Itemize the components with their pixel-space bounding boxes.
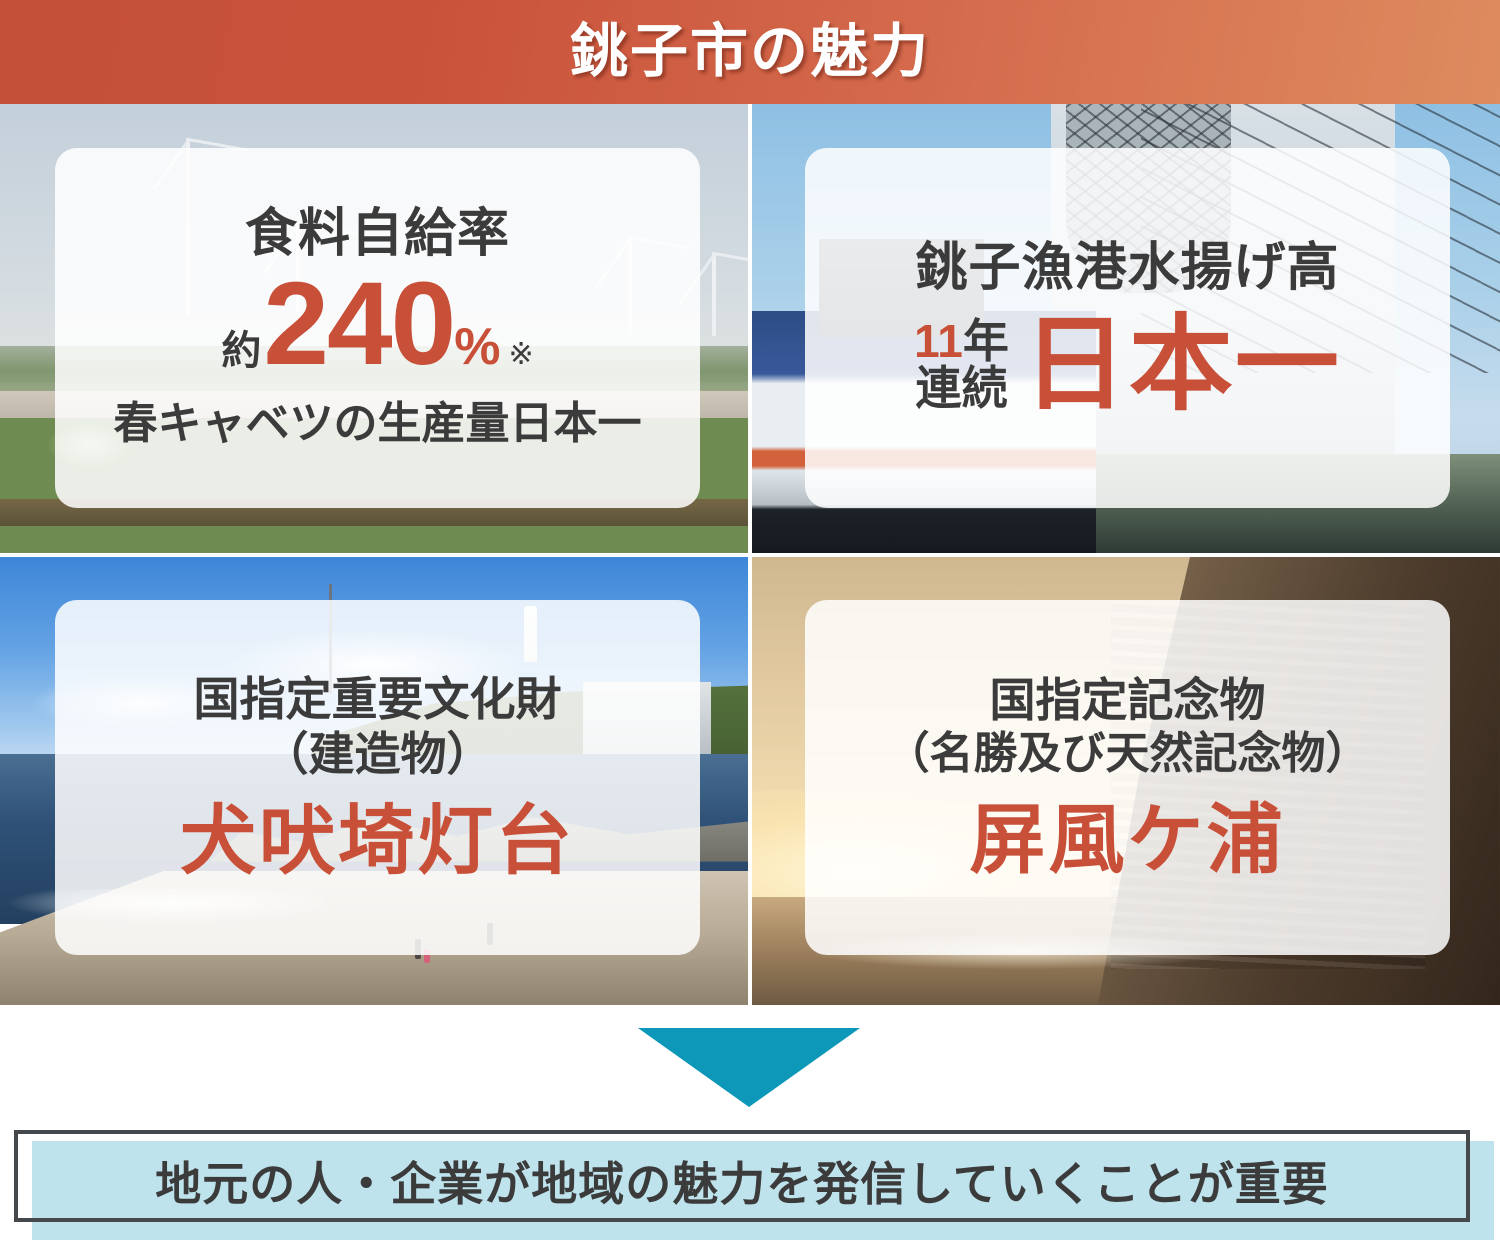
designation-line-1: 国指定重要文化財 (194, 672, 562, 727)
rank-row: 11年 連続 日本一 (914, 313, 1341, 417)
rank-value: 日本一 (1023, 313, 1341, 417)
stat-card-byobugaura: 国指定記念物 （名勝及び天然記念物） 屏風ケ浦 (805, 600, 1450, 955)
consecutive-label: 連続 (915, 365, 1007, 412)
page-title: 銚子市の魅力 (570, 23, 930, 81)
card-subtitle: 春キャベツの生産量日本一 (114, 387, 642, 451)
stat-unit: % (454, 317, 500, 377)
banner-border: 地元の人・企業が地域の魅力を発信していくことが重要 (14, 1130, 1470, 1222)
landmark-name: 犬吠埼灯台 (180, 800, 575, 884)
card-heading: 食料自給率 (245, 205, 510, 264)
stat-card-food-self-sufficiency: 食料自給率 約 240 % ※ 春キャベツの生産量日本一 (55, 148, 700, 508)
conclusion-text: 地元の人・企業が地域の魅力を発信していくことが重要 (155, 1148, 1329, 1214)
landmark-name: 屏風ケ浦 (970, 799, 1286, 883)
years-number: 11 (914, 315, 963, 367)
wind-turbine-icon (712, 254, 716, 336)
page-header: 銚子市の魅力 (0, 0, 1500, 104)
stat-value: 240 (263, 271, 454, 377)
consecutive-years-block: 11年 連続 (914, 318, 1009, 412)
stat-card-choshi-port-catch: 銚子漁港水揚げ高 11年 連続 日本一 (805, 148, 1450, 508)
designation-line-1: 国指定記念物 (990, 673, 1266, 728)
stat-approx-label: 約 (221, 318, 261, 376)
years-line: 11年 (914, 318, 1009, 365)
years-suffix: 年 (963, 315, 1009, 367)
stat-card-inubosaki-lighthouse: 国指定重要文化財 （建造物） 犬吠埼灯台 (55, 600, 700, 955)
down-arrow-icon (638, 1028, 860, 1107)
card-heading: 銚子漁港水揚げ高 (915, 239, 1339, 298)
conclusion-banner: 地元の人・企業が地域の魅力を発信していくことが重要 (14, 1130, 1486, 1230)
designation-line-2: （名勝及び天然記念物） (886, 728, 1370, 781)
footnote-marker: ※ (509, 337, 534, 372)
stat-row: 約 240 % ※ (221, 271, 533, 377)
designation-line-2: （建造物） (263, 727, 493, 782)
